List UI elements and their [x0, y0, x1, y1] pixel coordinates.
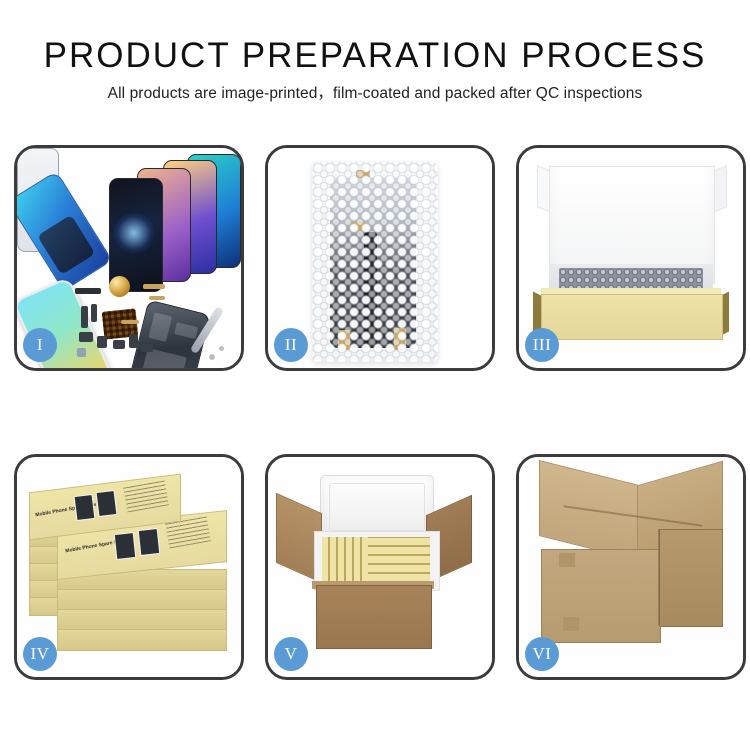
packed-boxes-vertical — [322, 537, 368, 581]
process-step-1: I — [14, 145, 244, 371]
part-flex-cable-2 — [149, 296, 165, 300]
part-small-4 — [97, 336, 107, 348]
step-badge-2: II — [274, 328, 308, 362]
process-step-5: V — [265, 454, 495, 680]
screw-2 — [219, 346, 224, 351]
part-small-2 — [91, 304, 97, 322]
carton-side-face — [659, 529, 723, 627]
part-small-6 — [129, 334, 138, 348]
part-small-5 — [113, 340, 125, 349]
box-front-panel — [541, 294, 723, 340]
stacked-box-r2 — [57, 589, 227, 611]
phone-blue-tilted — [17, 171, 113, 292]
part-small-3 — [79, 332, 93, 342]
part-bracket-1 — [75, 288, 101, 294]
product-preparation-infographic: PRODUCT PREPARATION PROCESS All products… — [0, 0, 750, 750]
process-step-2: II — [265, 145, 495, 371]
carton-corner-edge — [658, 529, 660, 625]
process-step-6: VI — [516, 454, 746, 680]
packed-boxes-horizontal — [368, 537, 430, 581]
process-step-3: III — [516, 145, 746, 371]
screw-1 — [209, 354, 215, 360]
stacked-box-r4 — [57, 629, 227, 651]
carton-tape-upper — [559, 553, 575, 567]
process-step-grid: I II — [14, 145, 736, 680]
box-art-screen-r2 — [138, 528, 161, 556]
vibration-motor — [109, 276, 130, 297]
step-badge-6: VI — [525, 637, 559, 671]
step-badge-4: IV — [23, 637, 57, 671]
bubble-texture-secondary — [312, 162, 438, 362]
process-step-4: Mobile Phone Spare Parts Mobile Phone Sp… — [14, 454, 244, 680]
phone-back-housing — [127, 300, 210, 368]
screen-glow — [113, 212, 155, 254]
foam-lid — [320, 475, 434, 539]
bubble-wrap-bag — [312, 162, 438, 362]
step-badge-3: III — [525, 328, 559, 362]
step-badge-1: I — [23, 328, 57, 362]
part-small-1 — [81, 306, 88, 328]
part-flex-cable-1 — [143, 284, 165, 289]
carton-front-panel — [316, 585, 432, 649]
page-subtitle: All products are image-printed，film-coat… — [0, 84, 750, 104]
part-small-7 — [141, 344, 153, 352]
part-small-8 — [77, 348, 86, 357]
stacked-box-r3 — [57, 609, 227, 631]
box-art-screen-l1 — [74, 494, 96, 521]
step-badge-5: V — [274, 637, 308, 671]
part-flex-cable-3 — [121, 320, 139, 324]
header: PRODUCT PREPARATION PROCESS All products… — [0, 34, 750, 104]
page-title: PRODUCT PREPARATION PROCESS — [0, 34, 750, 78]
box-art-screen-r1 — [114, 532, 137, 560]
carton-tape-lower — [563, 617, 579, 631]
packed-boxes — [322, 537, 430, 581]
box-art-screen-l2 — [96, 490, 118, 517]
